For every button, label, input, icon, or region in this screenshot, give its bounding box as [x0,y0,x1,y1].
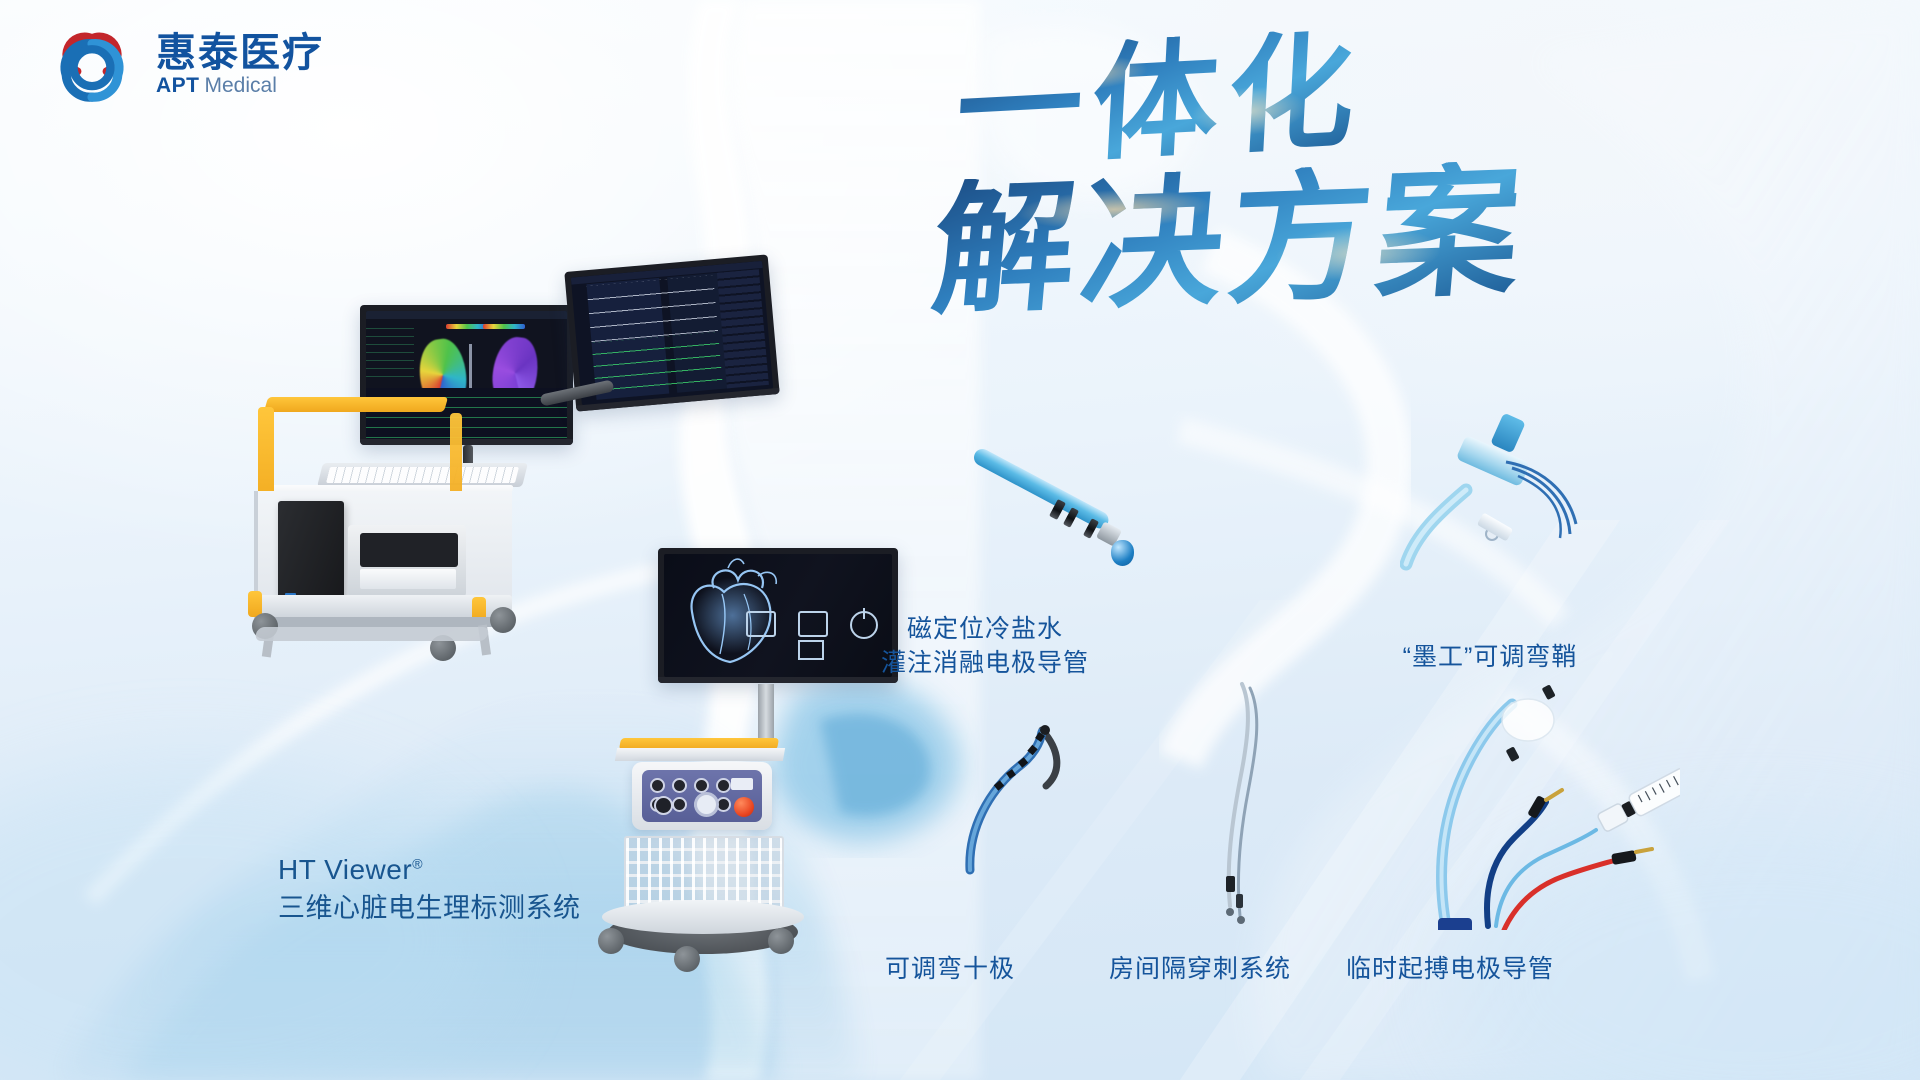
junction-box-button[interactable] [734,797,754,817]
brand-name-en: APT Medical [156,75,324,96]
steerable-sheath-icon [1400,438,1630,598]
decapolar-catheter-caption: 可调弯十极 [820,952,1080,986]
caption-line: 灌注消融电极导管 [845,646,1125,680]
cart-handle[interactable] [264,397,448,412]
fullscreen-icon[interactable] [798,640,824,660]
ablation-catheter-caption: 磁定位冷盐水 灌注消融电极导管 [845,612,1125,680]
decapolar-catheter-icon [950,720,1110,920]
ablation-catheter-icon [975,425,1175,595]
patient-junction-box [632,762,772,830]
caption-line: “墨工”可调弯鞘 [1340,640,1640,674]
headline-line-2: 解决方案 [928,159,1532,322]
brand-name-en-light: Medical [205,75,277,96]
printer [348,525,466,597]
irrigation-droplet-icon [1111,540,1134,566]
brand-name-en-bold: APT [156,75,200,96]
brand-logo: 惠泰医疗 APT Medical [46,18,324,110]
ht-viewer-caption: HT Viewer® 三维心脏电生理标测系统 [278,852,581,926]
trademark-symbol: ® [412,856,423,872]
pacing-balloon [1502,699,1554,741]
headline-line-1: 一体化 [953,27,1367,175]
brand-name-cn: 惠泰医疗 [156,33,324,73]
caption-line: 磁定位冷盐水 [845,612,1125,646]
monitor-pole [758,684,774,742]
ht-viewer-name-en: HT Viewer® [278,852,581,887]
mapping-screen [366,311,567,439]
steerable-sheath-caption: “墨工”可调弯鞘 [1340,640,1640,674]
ht-viewer-name-cn: 三维心脏电生理标测系统 [278,890,581,926]
sheath-shaft [1406,490,1466,564]
caption-line: 可调弯十极 [820,952,1080,986]
apt-medical-logo-icon [46,18,138,110]
keyboard[interactable] [317,463,528,487]
headline-calligraphy: 一体化 解决方案 [960,40,1660,370]
caption-line: 临时起搏电极导管 [1290,952,1610,986]
new-folder-icon[interactable] [746,611,776,637]
product-name-en: HT Viewer [278,854,412,885]
temporary-pacing-lead-icon [1380,680,1680,930]
transseptal-puncture-needle-icon [1190,680,1330,930]
caster-wheel [490,607,516,633]
temporary-pacing-lead-caption: 临时起搏电极导管 [1290,952,1610,986]
key-visual-stage: 惠泰医疗 APT Medical 一体化 解决方案 [0,0,1920,1080]
open-folder-icon[interactable] [798,611,828,637]
3d-mapping-monitor [360,305,573,445]
